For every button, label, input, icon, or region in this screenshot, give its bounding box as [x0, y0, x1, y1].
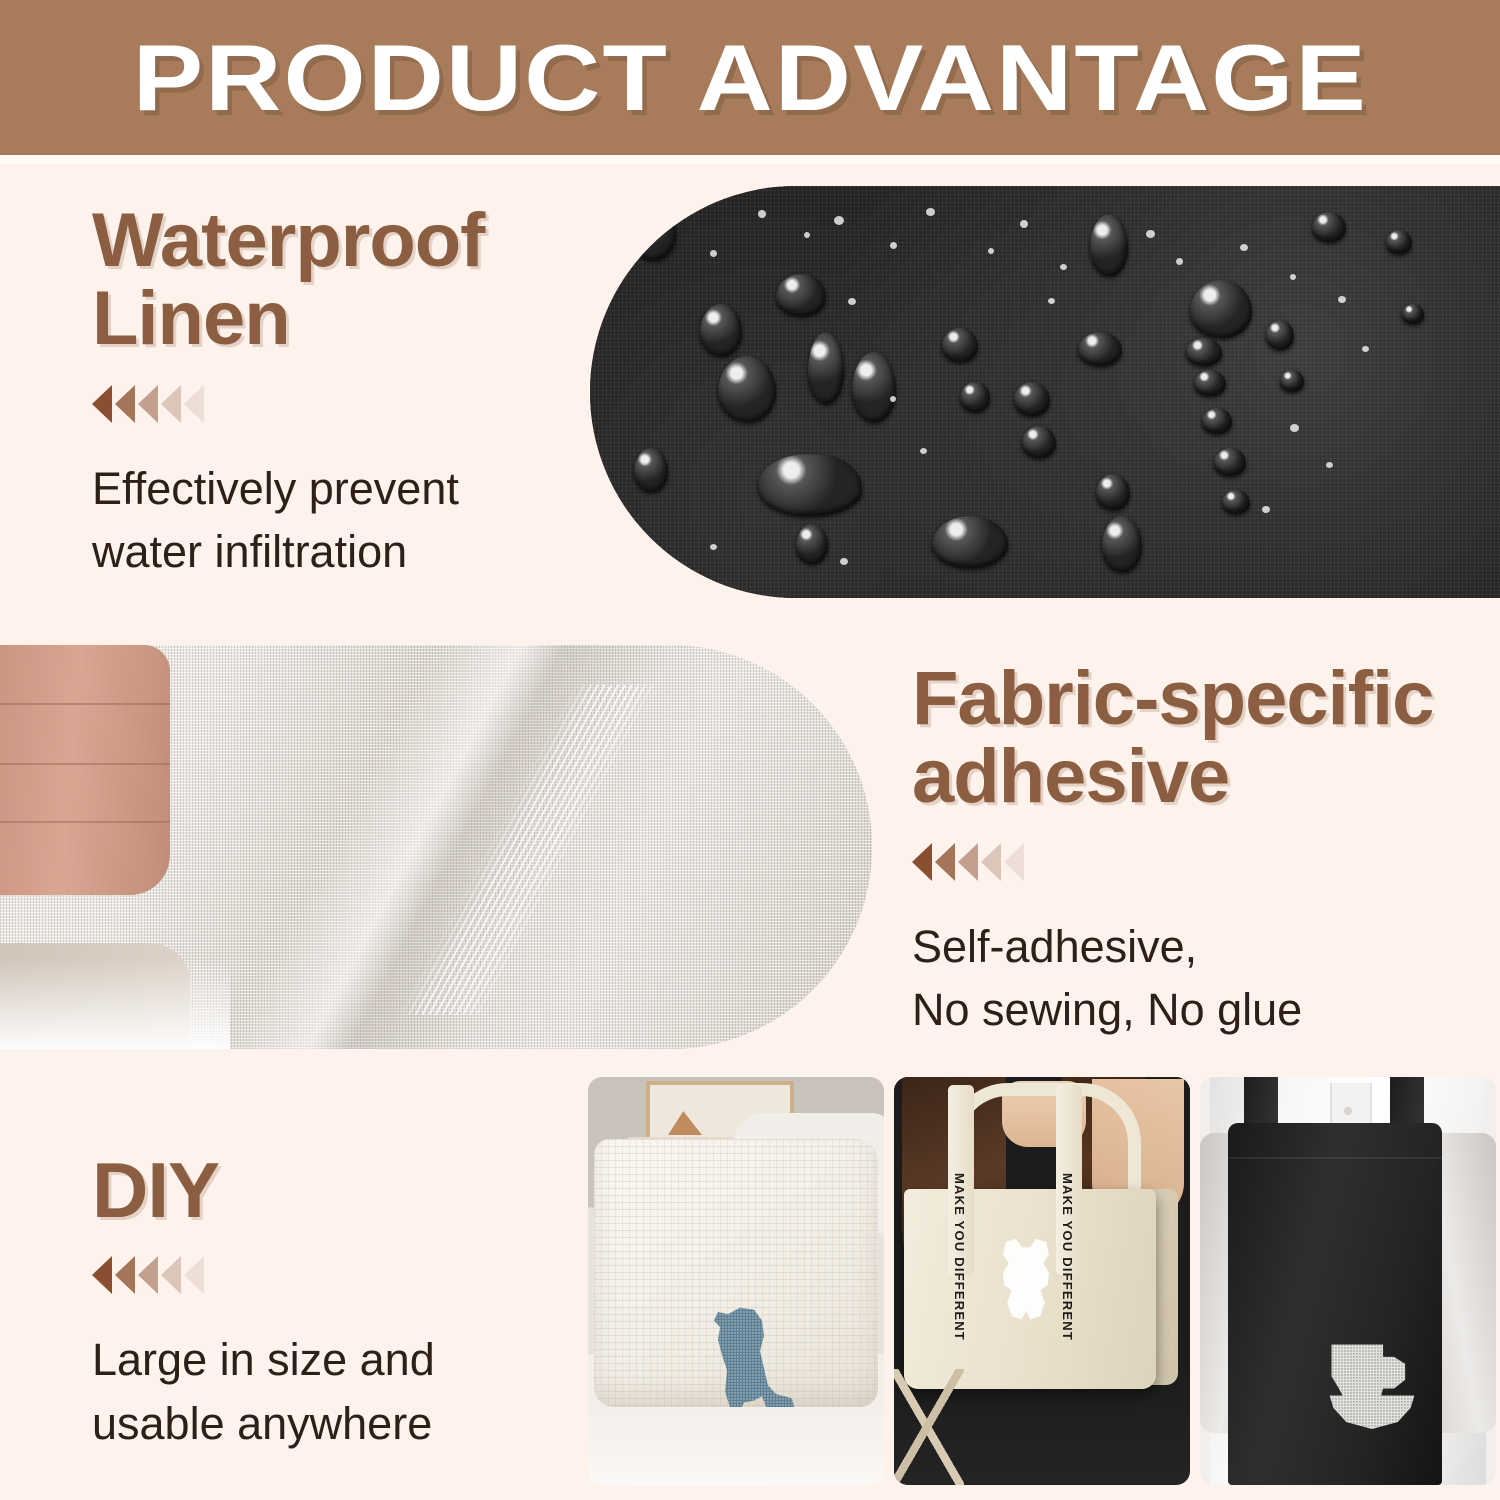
chevron-left-icon	[92, 1256, 112, 1294]
photo-shadow	[0, 959, 230, 1049]
chevron-left-icon	[161, 1256, 181, 1294]
chevron-left-icon	[981, 843, 1001, 881]
product-advantage-infographic: PRODUCT ADVANTAGE Waterproof Linen Effec…	[0, 0, 1500, 1500]
teacup-silhouette-patch	[1326, 1341, 1418, 1429]
chevron-left-icon	[184, 385, 204, 423]
page-title: PRODUCT ADVANTAGE	[132, 24, 1367, 132]
chair-legs	[894, 1369, 964, 1485]
feature-fabric-specific-adhesive: Fabric-specific adhesive Self-adhesive, …	[912, 660, 1492, 1042]
chevron-left-icon	[115, 385, 135, 423]
table-surface	[588, 1409, 884, 1485]
chevron-left-icon	[92, 385, 112, 423]
chevron-left-icon	[115, 1256, 135, 1294]
chevron-left-icon	[935, 843, 955, 881]
banner-underline	[0, 155, 1500, 164]
pillow	[594, 1139, 878, 1407]
chevron-left-icon	[138, 1256, 158, 1294]
chevron-divider	[912, 843, 1492, 881]
feature-headline: DIY	[92, 1150, 562, 1230]
feature-headline: Waterproof Linen	[92, 202, 562, 359]
fabric-fray-edge	[250, 685, 810, 1015]
feature-description: Large in size and usable anywhere	[92, 1328, 562, 1456]
strap-text-right: MAKE YOU DIFFERENT	[1060, 1173, 1075, 1341]
gallery-item-apron	[1200, 1077, 1496, 1485]
linen-fabric-photo	[0, 645, 872, 1049]
feature-waterproof-linen: Waterproof Linen Effectively prevent wat…	[92, 202, 562, 584]
chevron-left-icon	[138, 385, 158, 423]
gallery-item-pillow	[588, 1077, 884, 1485]
apron-body	[1228, 1123, 1442, 1485]
shirt-button	[1344, 1107, 1352, 1115]
feature-description: Effectively prevent water infiltration	[92, 457, 562, 585]
chevron-divider	[92, 385, 562, 423]
chevron-left-icon	[1004, 843, 1024, 881]
gallery-item-tote-bag: MAKE YOU DIFFERENT MAKE YOU DIFFERENT	[894, 1077, 1190, 1485]
chevron-left-icon	[184, 1256, 204, 1294]
feature-description: Self-adhesive, No sewing, No glue	[912, 915, 1492, 1043]
strap-text-left: MAKE YOU DIFFERENT	[952, 1173, 967, 1341]
chevron-left-icon	[958, 843, 978, 881]
water-droplets-photo	[590, 186, 1500, 598]
feature-headline: Fabric-specific adhesive	[912, 660, 1492, 817]
chevron-left-icon	[161, 385, 181, 423]
chevron-left-icon	[912, 843, 932, 881]
chevron-divider	[92, 1256, 562, 1294]
hand-holding-fabric	[0, 645, 170, 895]
feature-diy: DIY Large in size and usable anywhere	[92, 1150, 562, 1456]
header-banner: PRODUCT ADVANTAGE	[0, 0, 1500, 155]
dog-silhouette-patch	[698, 1299, 798, 1407]
